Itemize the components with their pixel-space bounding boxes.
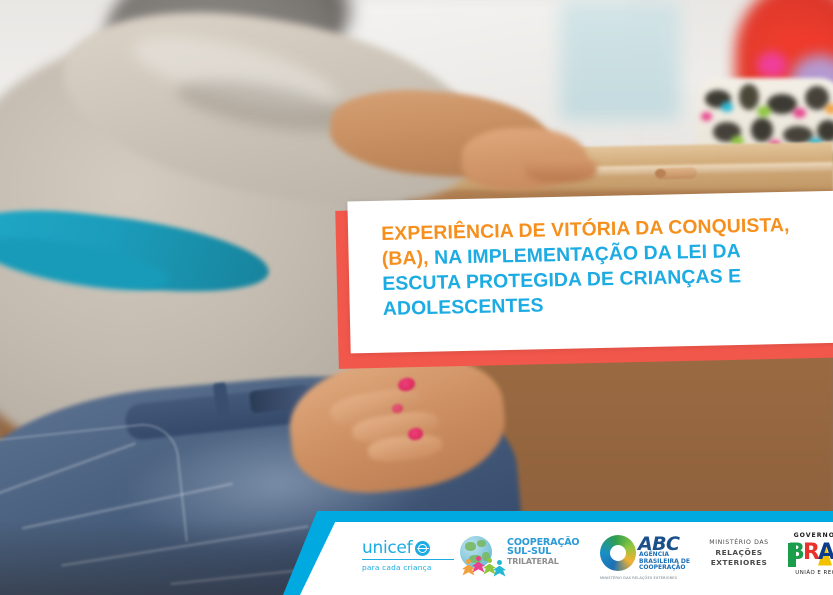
abc-footnote: MINISTÉRIO DAS RELAÇÕES EXTERIORES	[600, 576, 677, 580]
unicef-globe-icon	[415, 541, 430, 556]
cooperacao-sul-sul-logo: COOPERAÇÃO SUL-SUL TRILATERAL	[460, 536, 580, 580]
unicef-tagline: para cada criança	[362, 563, 457, 572]
coop-line-2: SUL-SUL	[507, 547, 579, 556]
abc-subtitle: AGÊNCIA BRASILEIRA DE COOPERAÇÃO	[639, 552, 690, 572]
abc-sub-3: COOPERAÇÃO	[639, 565, 690, 572]
title-line-2-rest: NA IMPLEMENTAÇÃO DA LEI DA	[428, 240, 740, 269]
governo-federal-logo: GOVERNO FEDERAL B R A S I L UNIÃO E RECO…	[785, 532, 833, 576]
mre-line-3: EXTERIORES	[700, 558, 778, 567]
unicef-wordmark: unicef	[362, 540, 412, 557]
footer-logos: unicef para cada criança	[300, 522, 833, 595]
mre-logo: MINISTÉRIO DAS RELAÇÕES EXTERIORES	[700, 539, 778, 567]
pencil-tip	[655, 169, 666, 178]
page-title: EXPERIÊNCIA DE VITÓRIA DA CONQUISTA, (BA…	[381, 213, 813, 322]
fingers-on-desk	[525, 156, 597, 182]
publication-cover: EXPERIÊNCIA DE VITÓRIA DA CONQUISTA, (BA…	[0, 0, 833, 595]
cooperacao-text: COOPERAÇÃO SUL-SUL TRILATERAL	[507, 538, 579, 566]
gov-top-label: GOVERNO FEDERAL	[785, 532, 833, 539]
abc-logo: ABC AGÊNCIA BRASILEIRA DE COOPERAÇÃO MIN…	[600, 531, 700, 583]
title-line-2-state: (BA),	[382, 247, 429, 270]
brasil-wordmark: B R A S I L	[788, 542, 833, 568]
gov-bottom-label: UNIÃO E RECONSTRUÇÃO	[785, 570, 833, 576]
title-line-4: ADOLESCENTES	[383, 294, 544, 319]
people-icons	[462, 555, 512, 577]
title-line-3: ESCUTA PROTEGIDA DE CRIANÇAS E	[382, 265, 741, 295]
mre-line-2: RELAÇÕES	[700, 548, 778, 557]
wall-panel-teal	[560, 0, 680, 120]
pink-item	[757, 52, 787, 78]
unicef-logo: unicef para cada criança	[362, 540, 457, 572]
abc-ring-icon	[600, 535, 636, 571]
unicef-divider	[362, 559, 454, 560]
mre-line-1: MINISTÉRIO DAS	[700, 539, 778, 546]
coop-line-3: TRILATERAL	[507, 557, 579, 566]
